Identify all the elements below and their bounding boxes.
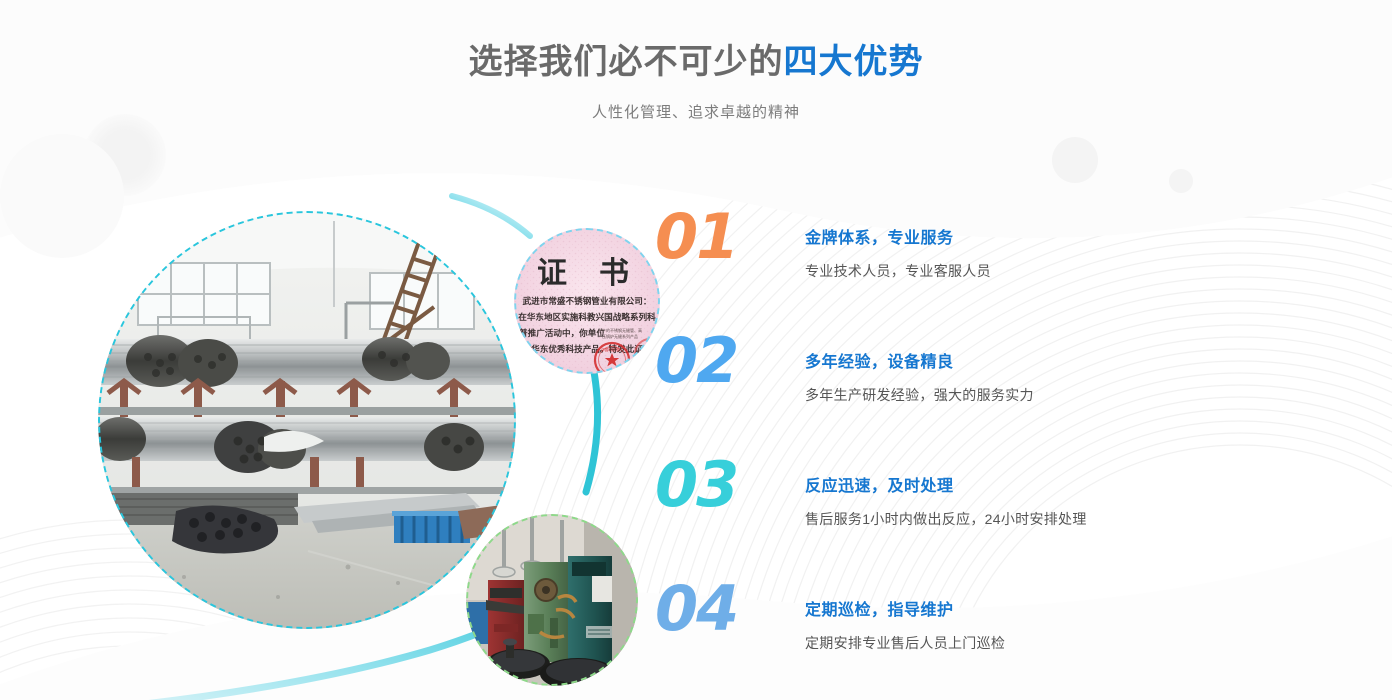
svg-text:书: 书 — [599, 256, 629, 291]
bg-blob-4 — [0, 134, 124, 258]
certificate-photo-circle[interactable]: 证 书 武进市常盛不锈钢管业有限公司： 在华东地区实施科教兴国战略系列科 普推广… — [514, 228, 660, 374]
advantage-number-01: 01 — [655, 206, 737, 268]
page-title: 选择我们必不可少的四大优势 — [0, 42, 1392, 83]
bg-blob-2 — [1052, 137, 1098, 183]
warehouse-photo-circle[interactable] — [98, 211, 516, 629]
advantage-description-03: 售后服务1小时内做出反应，24小时安排处理 — [805, 509, 1345, 529]
machine-photo — [466, 514, 638, 686]
svg-text:为华东优秀科技产品。特发此证。: 为华东优秀科技产品。特发此证。 — [523, 343, 652, 355]
page-title-accent: 四大优势 — [784, 43, 924, 81]
page-title-plain: 选择我们必不可少的 — [469, 43, 784, 81]
svg-text:压锅炉无缝系列产品: 压锅炉无缝系列产品 — [602, 333, 638, 339]
advantage-description-04: 定期安排专业售后人员上门巡检 — [805, 633, 1345, 653]
advantage-item-01[interactable]: 01 金牌体系，专业服务 专业技术人员，专业客服人员 — [655, 212, 1355, 336]
advantage-body-02: 多年经验，设备精良 多年生产研发经验，强大的服务实力 — [805, 348, 1345, 405]
page-subtitle: 人性化管理、追求卓越的精神 — [0, 101, 1392, 122]
svg-text:中国科技推广: 中国科技推广 — [601, 347, 623, 352]
advantages-section: 选择我们必不可少的四大优势 人性化管理、追求卓越的精神 — [0, 0, 1392, 700]
advantage-number-02: 02 — [655, 330, 737, 392]
swoosh-top — [452, 196, 530, 236]
svg-text:生产的不锈钢无缝管、高: 生产的不锈钢无缝管、高 — [598, 327, 642, 333]
advantage-body-01: 金牌体系，专业服务 专业技术人员，专业客服人员 — [805, 224, 1345, 281]
machine-photo-circle[interactable] — [466, 514, 638, 686]
advantage-body-04: 定期巡检，指导维护 定期安排专业售后人员上门巡检 — [805, 596, 1345, 653]
advantage-number-04: 04 — [655, 578, 737, 640]
advantage-heading-02: 多年经验，设备精良 — [805, 348, 1345, 372]
advantage-item-04[interactable]: 04 定期巡检，指导维护 定期安排专业售后人员上门巡检 — [655, 584, 1355, 700]
svg-text:证: 证 — [537, 256, 567, 291]
certificate-photo: 证 书 武进市常盛不锈钢管业有限公司： 在华东地区实施科教兴国战略系列科 普推广… — [514, 228, 660, 374]
advantages-list: 01 金牌体系，专业服务 专业技术人员，专业客服人员 02 多年经验，设备精良 … — [655, 212, 1355, 700]
advantage-number-03: 03 — [655, 454, 737, 516]
svg-text:武进市常盛不锈钢管业有限公司：: 武进市常盛不锈钢管业有限公司： — [523, 295, 652, 307]
svg-text:在华东地区实施科教兴国战略系列科: 在华东地区实施科教兴国战略系列科 — [518, 311, 656, 323]
advantage-heading-01: 金牌体系，专业服务 — [805, 224, 1345, 248]
advantage-item-03[interactable]: 03 反应迅速，及时处理 售后服务1小时内做出反应，24小时安排处理 — [655, 460, 1355, 584]
advantage-heading-04: 定期巡检，指导维护 — [805, 596, 1345, 620]
advantage-item-02[interactable]: 02 多年经验，设备精良 多年生产研发经验，强大的服务实力 — [655, 336, 1355, 460]
advantage-body-03: 反应迅速，及时处理 售后服务1小时内做出反应，24小时安排处理 — [805, 472, 1345, 529]
advantage-description-01: 专业技术人员，专业客服人员 — [805, 261, 1345, 281]
section-header: 选择我们必不可少的四大优势 人性化管理、追求卓越的精神 — [0, 42, 1392, 122]
advantage-description-02: 多年生产研发经验，强大的服务实力 — [805, 385, 1345, 405]
advantage-heading-03: 反应迅速，及时处理 — [805, 472, 1345, 496]
bg-blob-3 — [1169, 169, 1193, 193]
svg-text:普推广活动中，你单位: 普推广活动中，你单位 — [519, 327, 605, 339]
warehouse-photo — [98, 211, 516, 629]
